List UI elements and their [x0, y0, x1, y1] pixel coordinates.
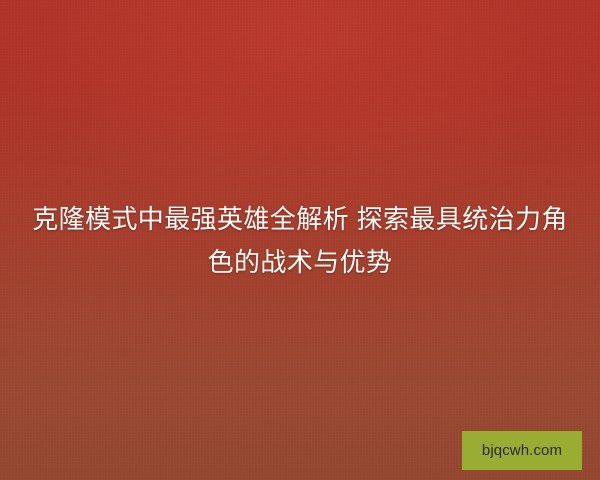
- image-canvas: 克隆模式中最强英雄全解析 探索最具统治力角色的战术与优势 bjqcwh.com: [0, 0, 600, 480]
- watermark-label: bjqcwh.com: [482, 443, 562, 458]
- watermark-badge: bjqcwh.com: [462, 431, 582, 470]
- headline-title: 克隆模式中最强英雄全解析 探索最具统治力角色的战术与优势: [0, 198, 600, 284]
